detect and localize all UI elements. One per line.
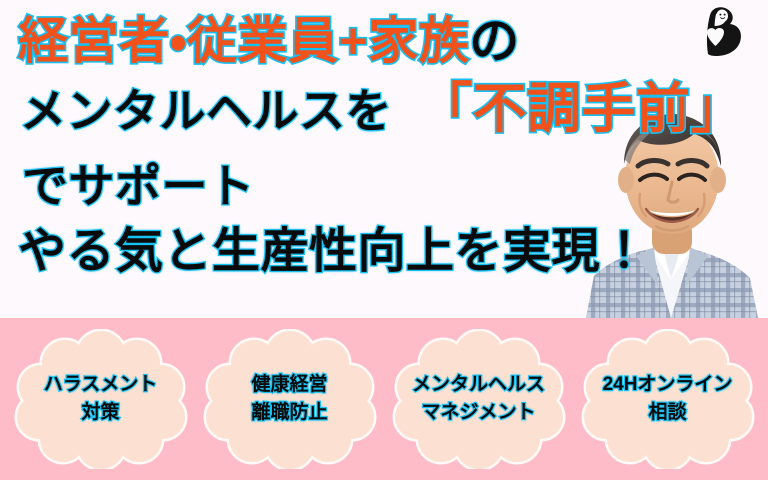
cloud-health-management[interactable]: 健康経営 離職防止 [202,329,378,469]
cloud-row: ハラスメント 対策 [0,318,768,480]
headline-line-3: でサポート [22,163,255,209]
headline-line-2-black: メンタルヘルスを [20,88,392,134]
cloud-label: 24Hオンライン 相談 [603,371,733,426]
hero-section: 経営者・従業員+家族の メンタルヘルスを 「不調手前」 でサポート やる気と生産… [0,0,768,318]
cloud-label: 健康経営 離職防止 [251,371,327,426]
service-strip: ハラスメント 対策 [0,318,768,480]
presenter-photo [576,108,766,318]
headline-line-1-orange: 経営者・従業員+家族 [18,16,469,66]
cloud-online-consultation[interactable]: 24Hオンライン 相談 [580,329,756,469]
b-heart-logo [694,4,748,60]
cloud-harassment[interactable]: ハラスメント 対策 [13,329,189,469]
headline-line-1: 経営者・従業員+家族の [18,16,520,66]
headline-line-1-black: の [469,16,520,66]
headline-line-4: やる気と生産性向上を実現！ [18,228,649,276]
cloud-label: メンタルヘルス マネジメント [412,371,545,426]
cloud-mental-health-management[interactable]: メンタルヘルス マネジメント [391,329,567,469]
cloud-label: ハラスメント 対策 [44,371,158,426]
promo-banner: 経営者・従業員+家族の メンタルヘルスを 「不調手前」 でサポート やる気と生産… [0,0,768,480]
